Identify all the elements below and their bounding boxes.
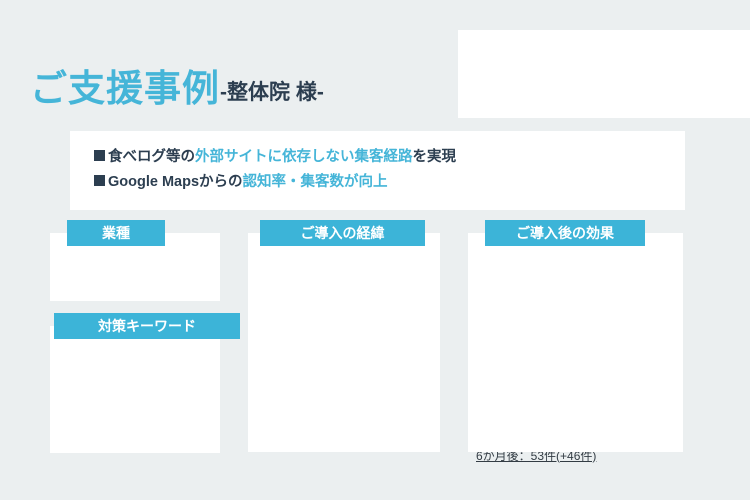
banner-line-1-seg-0: 食べログ等の (108, 149, 195, 165)
card-industry-heading: 業種 (67, 220, 165, 246)
card-keywords-body (50, 326, 220, 453)
highlight-banner: 食べログ等の外部サイトに依存しない集客経路を実現 Google Mapsからの認… (70, 131, 685, 210)
banner-line-1-seg-2: を実現 (413, 149, 457, 165)
card-results-heading: ご導入後の効果 (485, 220, 645, 246)
banner-line-1-seg-1: 外部サイトに依存しない集客経路 (195, 149, 413, 165)
card-results: ご導入後の効果 ①施策1ヶ月より成果発生 ②成果後2ヶ月でマップ合計反応数 18… (468, 220, 683, 452)
card-keywords-heading: 対策キーワード (54, 313, 240, 339)
card-keywords: 対策キーワード 名駅 整体 名古屋 肩こり 名駅 肩こり 名古屋 腰痛 整体 (50, 313, 240, 454)
banner-line-1: 食べログ等の外部サイトに依存しない集客経路を実現 (94, 145, 685, 170)
page-title-main: ご支援事例 (30, 68, 220, 109)
card-history: ご導入の経緯 比較的、人口密度の高いエリアでローカルマーケティングになるためME… (248, 220, 440, 452)
page-title: ご支援事例-整体院 様- (30, 70, 324, 107)
card-history-body (248, 233, 440, 452)
card-industry: 業種 整体院 (50, 220, 240, 302)
top-right-placeholder-box (458, 30, 750, 118)
page-title-sub: -整体院 様- (220, 81, 324, 104)
slide-root: ご支援事例-整体院 様- 食べログ等の外部サイトに依存しない集客経路を実現 Go… (0, 0, 750, 500)
card-results-body (468, 233, 683, 452)
square-bullet-icon (94, 150, 105, 161)
square-bullet-icon (94, 175, 105, 186)
banner-line-2: Google Mapsからの認知率・集客数が向上 (94, 170, 685, 195)
card-history-heading: ご導入の経緯 (260, 220, 425, 246)
banner-line-2-seg-1: 認知率・集客数が向上 (243, 174, 388, 190)
banner-line-2-seg-0: Google Mapsからの (108, 174, 243, 190)
